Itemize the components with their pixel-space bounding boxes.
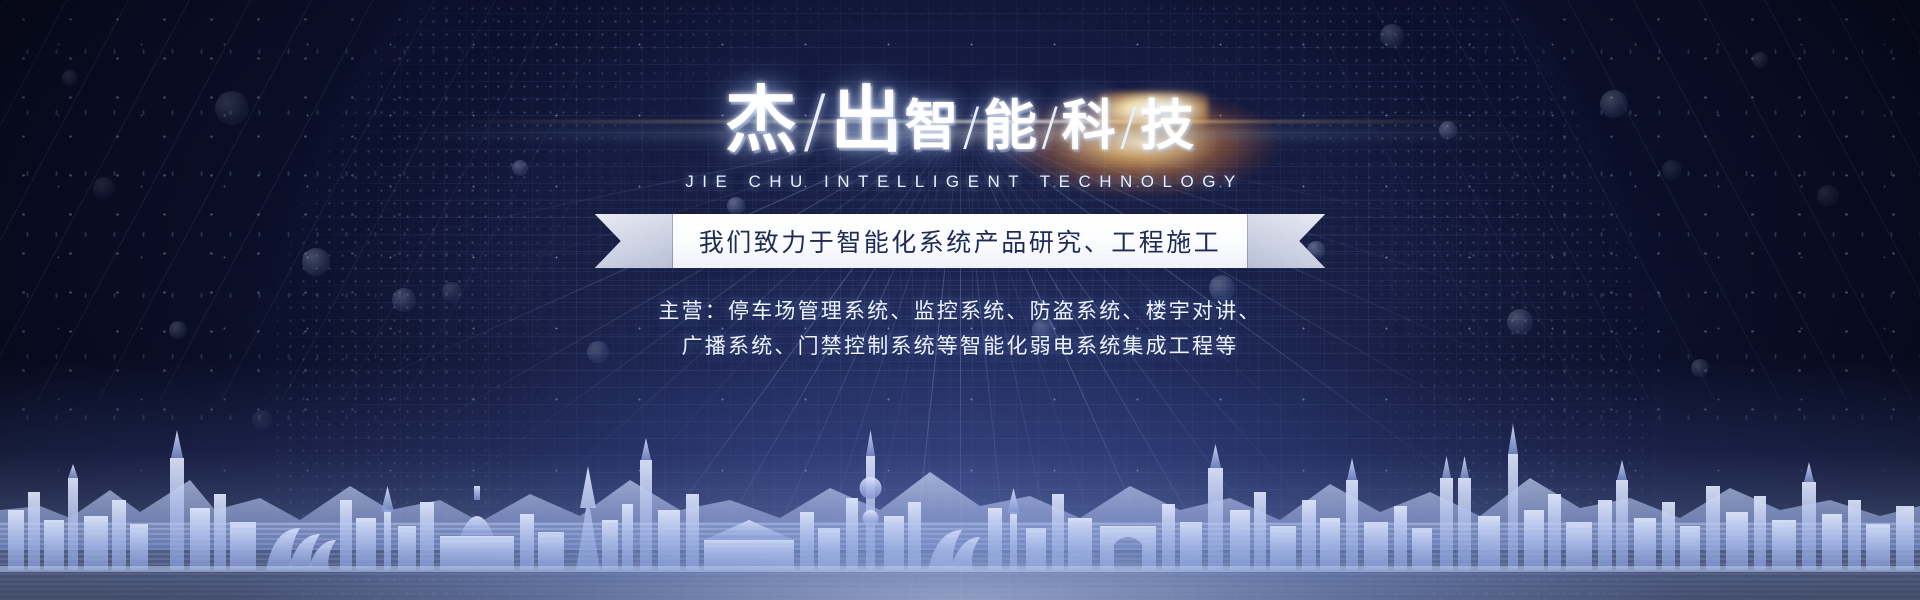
title-separator: / bbox=[799, 86, 831, 156]
ribbon-body: 我们致力于智能化系统产品研究、工程施工 bbox=[673, 214, 1248, 268]
main-title: 杰/出智/能/科/技 bbox=[0, 84, 1920, 156]
services-description: 主营：停车场管理系统、监控系统、防盗系统、楼宇对讲、 广播系统、门禁控制系统等智… bbox=[0, 294, 1920, 365]
hero-banner: 杰/出智/能/科/技 JIE CHU INTELLIGENT TECHNOLOG… bbox=[0, 0, 1920, 600]
ribbon-tail-right bbox=[1247, 214, 1325, 268]
title-char: 智 bbox=[905, 99, 960, 153]
banner-content: 杰/出智/能/科/技 JIE CHU INTELLIGENT TECHNOLOG… bbox=[0, 0, 1920, 365]
services-line-2: 广播系统、门禁控制系统等智能化弱电系统集成工程等 bbox=[0, 329, 1920, 364]
ribbon-text: 我们致力于智能化系统产品研究、工程施工 bbox=[699, 223, 1222, 259]
title-char: 科 bbox=[1062, 99, 1117, 153]
ribbon-tail-left bbox=[595, 214, 673, 268]
title-char: 能 bbox=[983, 99, 1038, 153]
tagline-ribbon: 我们致力于智能化系统产品研究、工程施工 bbox=[0, 214, 1920, 268]
title-separator: / bbox=[960, 101, 984, 153]
english-subtitle: JIE CHU INTELLIGENT TECHNOLOGY bbox=[0, 172, 1920, 192]
services-line-1: 主营：停车场管理系统、监控系统、防盗系统、楼宇对讲、 bbox=[0, 294, 1920, 329]
title-separator: / bbox=[1038, 101, 1062, 153]
title-char: 杰 bbox=[725, 84, 799, 156]
title-separator: / bbox=[1117, 101, 1141, 153]
title-char: 出 bbox=[831, 84, 905, 156]
title-char: 技 bbox=[1140, 99, 1195, 153]
